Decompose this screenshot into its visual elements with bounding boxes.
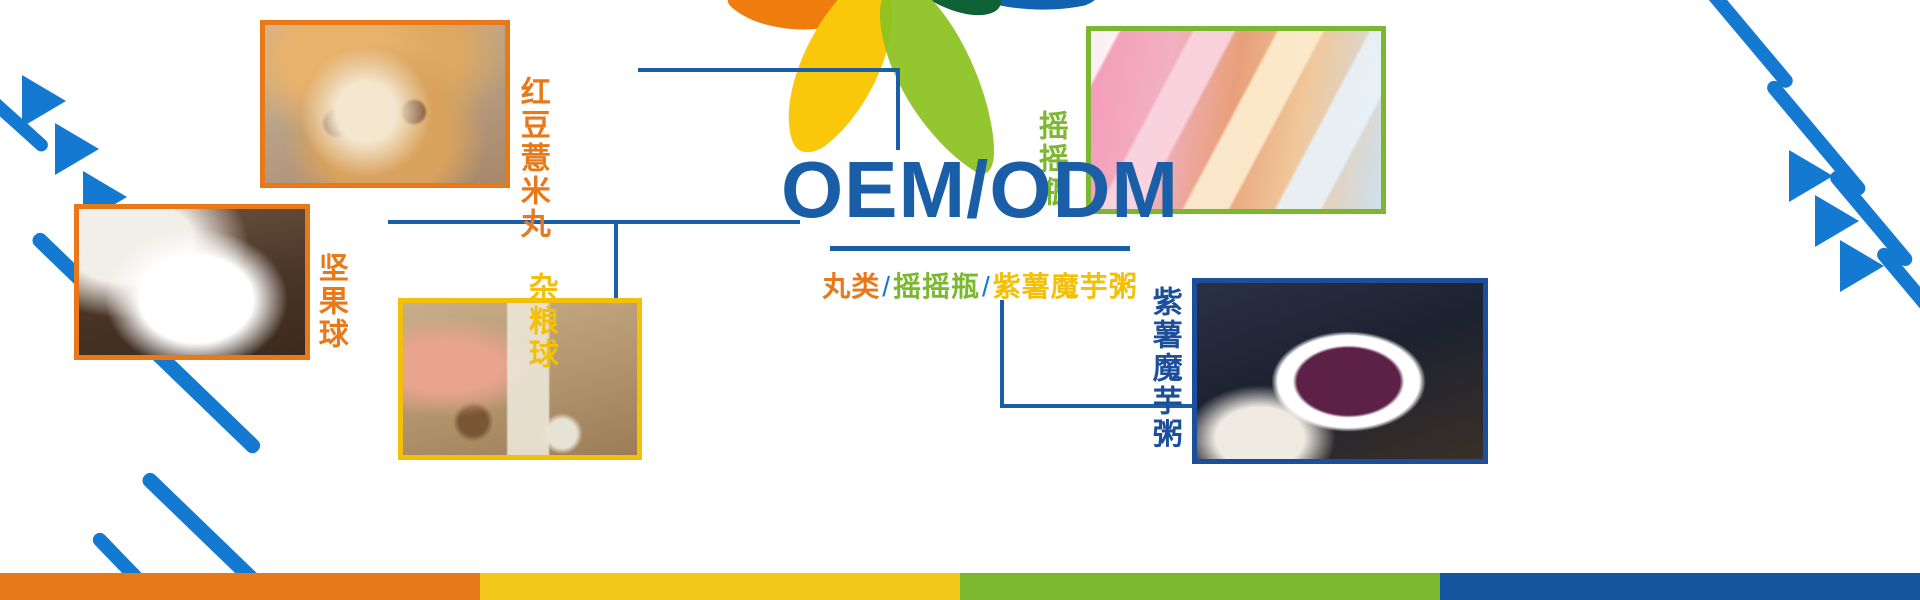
- subtitle-separator-1: /: [882, 271, 891, 302]
- connector-nutball-h: [388, 220, 800, 224]
- connector-porridge-v: [1000, 300, 1004, 408]
- color-segment-green: [960, 573, 1440, 600]
- label-red-bean-ball: 红豆薏米丸: [516, 76, 548, 241]
- product-photo-nut-ball[interactable]: [74, 204, 310, 360]
- center-text-block: OEM/ODM 丸类/摇摇瓶/紫薯魔芋粥: [770, 150, 1190, 305]
- product-photo-grain-ball[interactable]: [398, 298, 642, 460]
- decor-stripe-left-1: [0, 83, 51, 154]
- decor-stripe-right-4: [1874, 245, 1920, 327]
- product-photo-red-bean-ball[interactable]: [260, 20, 510, 188]
- page-title: OEM/ODM: [770, 150, 1190, 230]
- photo-grain-ball-image: [403, 303, 637, 455]
- label-grain-ball: 杂粮球: [524, 272, 556, 371]
- photo-nut-ball-image: [79, 209, 305, 355]
- decor-triangle-right-1: [1789, 150, 1833, 202]
- label-nut-ball: 坚果球: [314, 252, 346, 351]
- color-segment-orange: [0, 573, 480, 600]
- connector-redbean-v: [896, 68, 900, 150]
- decor-triangle-left-1: [22, 75, 66, 127]
- bottom-color-strip: [0, 573, 1920, 600]
- subtitle: 丸类/摇摇瓶/紫薯魔芋粥: [770, 265, 1190, 305]
- decor-triangle-right-2: [1815, 195, 1859, 247]
- color-segment-yellow: [480, 573, 960, 600]
- decor-stripe-right-1: [1701, 0, 1795, 91]
- promo-banner: 红豆薏米丸 坚果球 杂粮球 摇摇瓶 紫薯魔芋粥 OEM/ODM 丸类/摇摇瓶/紫…: [0, 0, 1920, 600]
- decor-stripe-right-2: [1764, 78, 1868, 198]
- photo-red-bean-ball-image: [265, 25, 505, 183]
- title-underline: [830, 246, 1130, 251]
- subtitle-part-1: 丸类: [822, 271, 880, 302]
- decor-stripe-right-3: [1827, 168, 1915, 269]
- subtitle-separator-2: /: [982, 271, 991, 302]
- photo-porridge-image: [1197, 283, 1483, 459]
- connector-redbean-h: [638, 68, 900, 72]
- color-segment-blue: [1440, 573, 1920, 600]
- subtitle-part-3: 紫薯魔芋粥: [993, 271, 1138, 302]
- decor-triangle-left-2: [55, 123, 99, 175]
- product-photo-porridge[interactable]: [1192, 278, 1488, 464]
- subtitle-part-2: 摇摇瓶: [893, 271, 980, 302]
- label-porridge: 紫薯魔芋粥: [1148, 286, 1180, 451]
- decor-triangle-right-3: [1840, 240, 1884, 292]
